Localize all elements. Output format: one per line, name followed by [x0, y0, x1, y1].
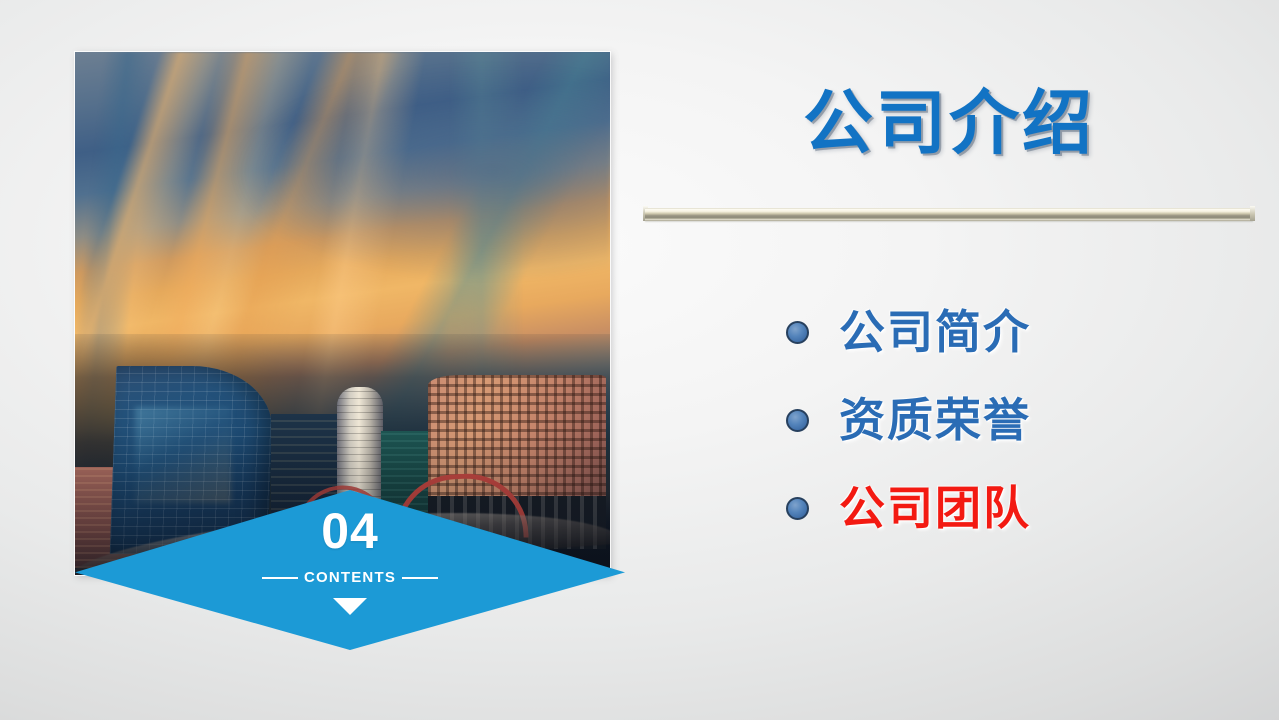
list-item[interactable]: 公司团队	[786, 464, 1256, 552]
agenda-list: 公司简介 资质荣誉 公司团队	[786, 288, 1256, 552]
list-item[interactable]: 资质荣誉	[786, 376, 1256, 464]
agenda-item-label-2: 资质荣誉	[839, 397, 1031, 443]
agenda-item-label-1: 公司简介	[839, 309, 1031, 355]
presentation-slide: 04 CONTENTS 公司介绍 公司简介 资质荣誉 公司团队	[0, 0, 1279, 720]
title-divider	[645, 208, 1253, 221]
divider-cap-right	[1250, 206, 1255, 221]
page-title: 公司介绍	[645, 86, 1253, 162]
bullet-circle-icon	[786, 321, 809, 344]
list-item[interactable]: 公司简介	[786, 288, 1256, 376]
bullet-circle-icon	[786, 409, 809, 432]
bullet-circle-icon	[786, 497, 809, 520]
agenda-item-label-3: 公司团队	[839, 485, 1031, 531]
